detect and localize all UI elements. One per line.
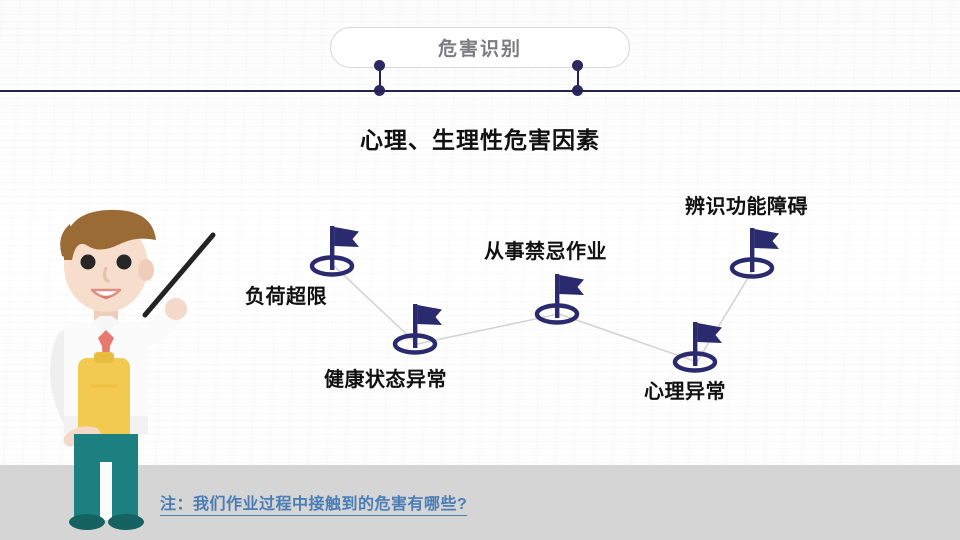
header-divider-rule [0,90,960,92]
section-subtitle: 心理、生理性危害因素 [0,121,960,155]
node-label-2: 健康状态异常 [324,363,447,392]
flag-icon-node-1[interactable] [305,222,365,278]
flag-icon-node-5[interactable] [668,318,728,374]
connector-dot-top-right [572,60,583,71]
slide-canvas: 危害识别 心理、生理性危害因素 负荷超限 健康状态异常 从事禁忌作业 辨识功能障… [0,0,960,540]
node-label-1: 负荷超限 [245,280,327,309]
node-label-5: 心理异常 [644,375,726,404]
flag-icon-node-4[interactable] [725,224,785,280]
node-label-4: 辨识功能障碍 [685,190,808,219]
presenter-illustration [30,190,240,540]
flag-icon-node-3[interactable] [530,270,590,326]
connector-dot-top-left [374,60,385,71]
slide-title-text: 危害识别 [438,34,522,61]
flag-icon-node-2[interactable] [388,300,448,356]
node-label-3: 从事禁忌作业 [484,235,607,264]
